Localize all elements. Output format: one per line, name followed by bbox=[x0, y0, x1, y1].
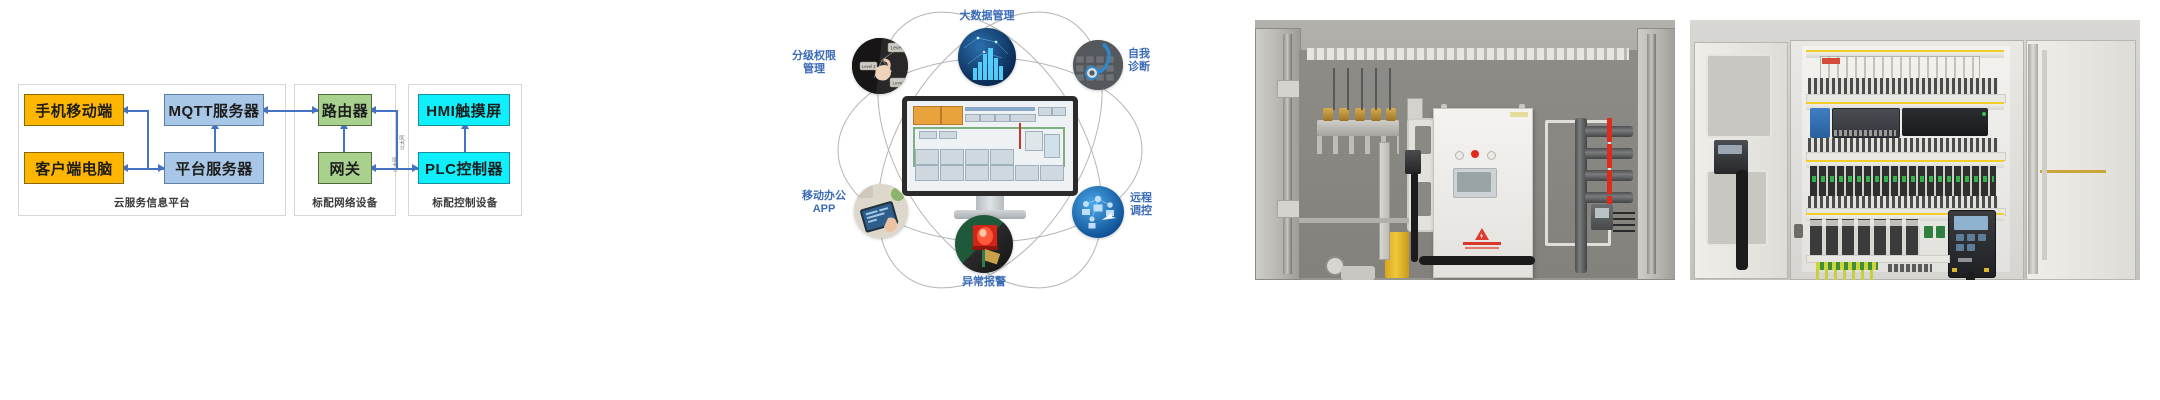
permission-levels-icon: Level 1 Level 3 Level bbox=[852, 38, 908, 94]
transmitter-cable bbox=[1411, 172, 1418, 262]
valve-handle-1[interactable] bbox=[1607, 118, 1612, 142]
node-label-plc: PLC控制器 bbox=[425, 158, 503, 179]
vfd-motor-cable bbox=[1966, 272, 1975, 280]
fuse-block-row bbox=[1888, 264, 1932, 272]
door-ground-strap bbox=[2040, 170, 2106, 173]
bubble-selfdiagnosis[interactable] bbox=[1073, 40, 1123, 90]
node-mqtt-server[interactable]: MQTT服务器 bbox=[164, 94, 264, 126]
node-label-mqtt: MQTT服务器 bbox=[169, 100, 260, 121]
node-plc-controller[interactable]: PLC控制器 bbox=[418, 152, 510, 184]
vfd-key-3[interactable] bbox=[1978, 234, 1986, 241]
door-clamp-upper bbox=[1277, 80, 1301, 98]
right-door-hinge bbox=[2028, 44, 2038, 274]
door-hinge-bar-right bbox=[1647, 34, 1656, 274]
terminal-row-2 bbox=[1808, 138, 1998, 152]
bubble-mobileapp[interactable] bbox=[854, 184, 908, 238]
node-client-pc[interactable]: 客户端电脑 bbox=[24, 152, 124, 184]
power-supply-module bbox=[1810, 108, 1830, 138]
plc-terminal-strip bbox=[1834, 130, 1896, 136]
node-label-router: 路由器 bbox=[322, 100, 369, 121]
panel-lug-left bbox=[1441, 104, 1447, 109]
valve-handle-3[interactable] bbox=[1607, 170, 1612, 194]
manifold-block bbox=[1317, 120, 1399, 136]
field-transmitter bbox=[1405, 150, 1421, 174]
bubble-alarm[interactable] bbox=[955, 215, 1013, 273]
node-gateway[interactable]: 网关 bbox=[318, 152, 372, 184]
terminal-row-3 bbox=[1808, 196, 1998, 208]
edge-riser-mobile bbox=[147, 110, 149, 168]
cabinet-a-left-door bbox=[1255, 28, 1301, 280]
label-selfdiagnosis: 自我 诊断 bbox=[1128, 48, 1178, 75]
node-label-platform: 平台服务器 bbox=[175, 158, 253, 179]
label-bigdata: 大数据管理 bbox=[937, 10, 1037, 23]
central-monitor bbox=[902, 96, 1078, 222]
door-hinge-bar-left bbox=[1283, 34, 1292, 274]
node-label-gateway: 网关 bbox=[329, 158, 360, 179]
warning-text bbox=[1463, 242, 1501, 245]
capability-infographic: 大数据管理 自我 诊断 bbox=[740, 0, 1240, 400]
edge-riser-router bbox=[396, 110, 398, 168]
vfd-terminal-led-left bbox=[1952, 268, 1957, 272]
valve-handle-2[interactable] bbox=[1607, 144, 1612, 168]
label-remotecontrol: 远程 调控 bbox=[1130, 192, 1180, 219]
ground-wire-tails bbox=[1816, 270, 1878, 280]
screenshot-root: 云服务信息平台 标配网络设备 标配控制设备 bbox=[0, 0, 2160, 400]
monitor-screen bbox=[902, 96, 1078, 196]
label-permission: 分级权限 管理 bbox=[776, 50, 852, 77]
node-label-hmi: HMI触摸屏 bbox=[426, 100, 502, 121]
vfd-key-5[interactable] bbox=[1967, 244, 1975, 251]
ground-terminal-bar bbox=[1816, 262, 1878, 270]
door-cable-bundle bbox=[1736, 170, 1748, 270]
contactor-labels bbox=[1810, 220, 1920, 226]
edge-label-upper: 以太网 bbox=[399, 135, 406, 150]
din-rail-vertical bbox=[1379, 142, 1390, 260]
hmi-glass bbox=[1457, 172, 1491, 192]
node-hmi-panel[interactable]: HMI触摸屏 bbox=[418, 94, 510, 126]
vfd-terminal-led-right bbox=[1984, 268, 1989, 272]
cable-loop-bottom bbox=[1419, 256, 1535, 265]
bubble-bigdata[interactable] bbox=[958, 28, 1016, 86]
warning-subtext bbox=[1465, 247, 1499, 249]
group-caption-control: 标配控制设备 bbox=[409, 195, 521, 210]
plc-io-expansion bbox=[1902, 108, 1988, 136]
drive-keypad[interactable] bbox=[1718, 145, 1742, 154]
bigdata-icon bbox=[958, 28, 1016, 86]
group-caption-network: 标配网络设备 bbox=[295, 195, 395, 210]
network-topology-diagram: 云服务信息平台 标配网络设备 标配控制设备 bbox=[0, 0, 740, 400]
vfd-brand-mark bbox=[1958, 258, 1972, 262]
alarm-beacon-icon bbox=[955, 215, 1013, 273]
scada-screen-content bbox=[907, 101, 1073, 191]
bubble-permission[interactable]: Level 1 Level 3 Level bbox=[852, 38, 908, 94]
panel-label-tag bbox=[1510, 112, 1528, 117]
sensor-wires bbox=[1613, 212, 1635, 236]
indicator-lamp-red bbox=[1471, 150, 1479, 158]
door-clamp-lower bbox=[1277, 200, 1301, 218]
cabinet-b-lock[interactable] bbox=[1794, 224, 1803, 238]
junction-box-small bbox=[1407, 98, 1423, 120]
node-mobile-client[interactable]: 手机移动端 bbox=[24, 94, 124, 126]
indicator-lamp-white-right bbox=[1487, 151, 1496, 160]
mobile-office-icon bbox=[854, 184, 908, 238]
breaker-label-row1 bbox=[1822, 58, 1840, 64]
vfd-key-4[interactable] bbox=[1956, 244, 1964, 251]
relay-indicator-leds bbox=[1812, 176, 1994, 182]
node-label-mobile: 手机移动端 bbox=[35, 100, 113, 121]
door-wire-channel bbox=[2042, 50, 2047, 260]
floor-shelf bbox=[1299, 218, 1409, 223]
indicator-lamp-white-left bbox=[1455, 151, 1464, 160]
cabinet-a-vent-strip bbox=[1307, 48, 1629, 60]
panel-lug-right bbox=[1519, 104, 1525, 109]
aux-switch-2[interactable] bbox=[1936, 226, 1945, 238]
label-mobileapp: 移动办公 APP bbox=[788, 190, 860, 217]
node-label-client: 客户端电脑 bbox=[35, 158, 113, 179]
remote-control-icon bbox=[1072, 186, 1124, 238]
svg-text:Level 3: Level 3 bbox=[862, 64, 876, 69]
group-caption-cloud: 云服务信息平台 bbox=[19, 195, 285, 210]
photo-dosing-cabinet bbox=[1255, 20, 1675, 280]
aux-switch-1[interactable] bbox=[1924, 226, 1933, 238]
electric-shock-warning-icon bbox=[1475, 228, 1489, 240]
breaker-bank-row1 bbox=[1820, 56, 1980, 80]
node-router[interactable]: 路由器 bbox=[318, 94, 372, 126]
bubble-remotecontrol[interactable] bbox=[1072, 186, 1124, 238]
node-platform-server[interactable]: 平台服务器 bbox=[164, 152, 264, 184]
cabinet-a-right-door bbox=[1637, 28, 1675, 280]
vfd-key-1[interactable] bbox=[1956, 234, 1964, 241]
edge-mqtt-router bbox=[264, 110, 318, 112]
vfd-display bbox=[1954, 216, 1988, 230]
label-alarm: 异常报警 bbox=[934, 276, 1034, 289]
gauge-vessel bbox=[1341, 266, 1375, 280]
terminal-row-1 bbox=[1808, 78, 1998, 94]
door-plate-cutout-upper bbox=[1706, 54, 1772, 138]
vfd-key-2[interactable] bbox=[1967, 234, 1975, 241]
self-diagnosis-icon bbox=[1073, 40, 1123, 90]
dosing-tubes bbox=[1321, 68, 1399, 110]
photo-electrical-cabinet bbox=[1690, 20, 2140, 280]
expansion-status-led bbox=[1982, 112, 1986, 116]
flow-sensor-display bbox=[1595, 208, 1609, 218]
